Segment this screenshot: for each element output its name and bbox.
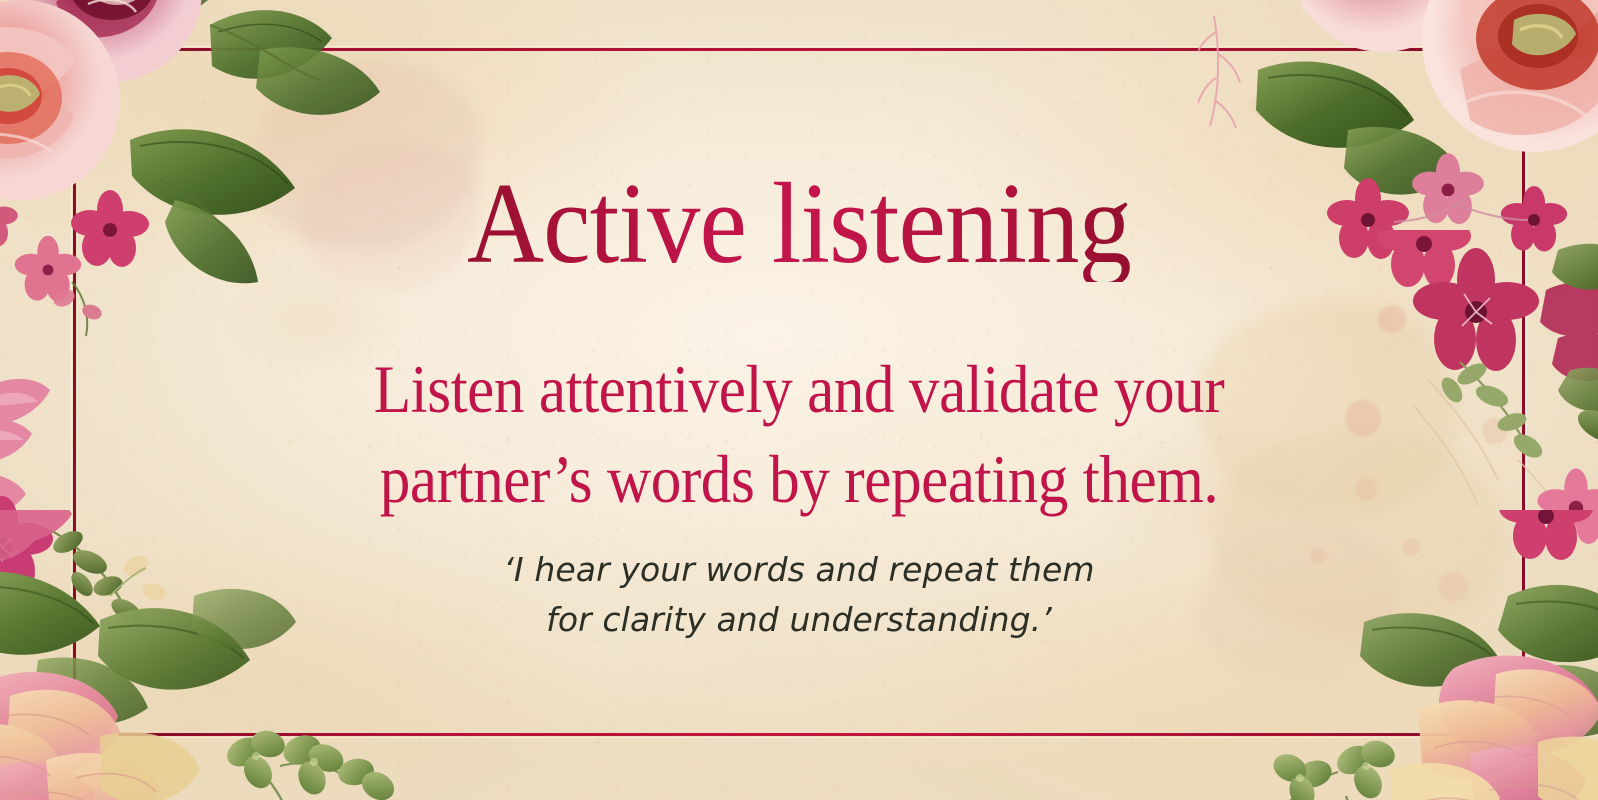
floral-quote-card: Active listening Listen attentively and … (0, 0, 1598, 800)
subtitle-line-2: partner’s words by repeating them. (80, 435, 1518, 525)
quote-line-2: for clarity and understanding.’ (0, 595, 1598, 645)
page-title: Active listening (64, 166, 1534, 282)
subtitle-line-1: Listen attentively and validate your (80, 345, 1518, 435)
quote-block: ‘I hear your words and repeat them for c… (0, 545, 1598, 645)
subtitle-block: Listen attentively and validate your par… (80, 345, 1518, 525)
quote-line-1: ‘I hear your words and repeat them (0, 545, 1598, 595)
frame-top-rule (73, 48, 1525, 51)
frame-bottom-rule (73, 733, 1525, 736)
